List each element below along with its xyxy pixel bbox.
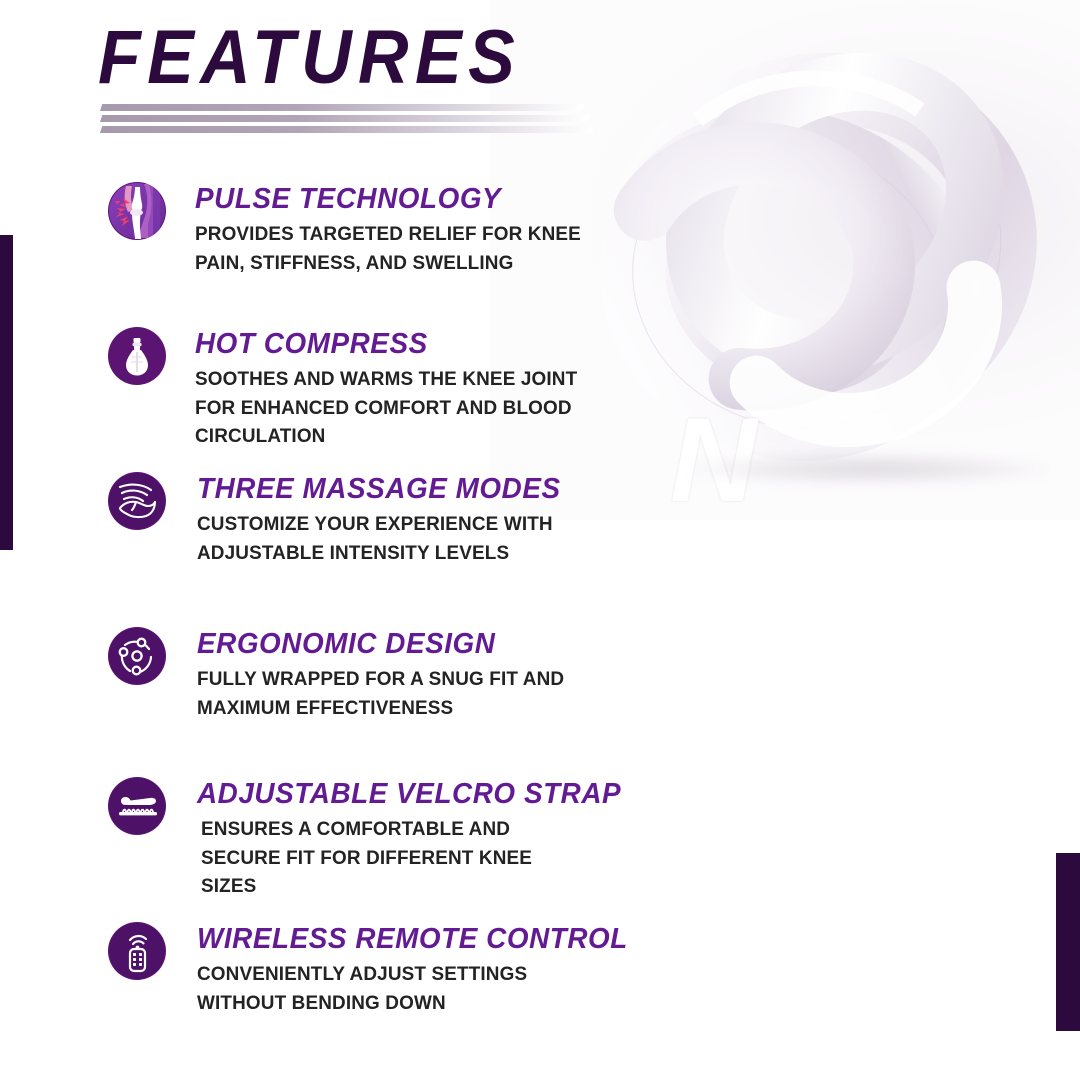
feature-title: THREE MASSAGE MODES [197, 474, 581, 504]
feature-text-block: WIRELESS REMOTE CONTROL CONVENIENTLY ADJ… [197, 922, 646, 1017]
feature-item-pulse-technology: PULSE TECHNOLOGY PROVIDES TARGETED RELIE… [108, 182, 628, 277]
feature-item-ergonomic-design: ERGONOMIC DESIGN FULLY WRAPPED FOR A SNU… [108, 627, 628, 722]
feature-title: ADJUSTABLE VELCRO STRAP [197, 779, 621, 809]
feature-text-block: ADJUSTABLE VELCRO STRAP ENSURES A COMFOR… [197, 777, 639, 900]
hot-water-bottle-icon [108, 327, 166, 385]
page-title: FEATURES [98, 20, 521, 96]
feature-description: CUSTOMIZE YOUR EXPERIENCE WITH ADJUSTABL… [197, 510, 585, 567]
feature-text-block: ERGONOMIC DESIGN FULLY WRAPPED FOR A SNU… [197, 627, 597, 722]
right-accent-bar [1056, 853, 1080, 1031]
knee-pulse-icon [108, 182, 166, 240]
feature-item-three-massage-modes: THREE MASSAGE MODES CUSTOMIZE YOUR EXPER… [108, 472, 628, 567]
title-rule-1 [100, 104, 584, 111]
features-poster: N FEATURES [0, 0, 1080, 1080]
left-accent-bar [0, 235, 13, 550]
feature-description: SOOTHES AND WARMS THE KNEE JOINT FOR ENH… [195, 365, 583, 450]
feature-title: WIRELESS REMOTE CONTROL [197, 924, 628, 954]
ergonomic-nodes-icon [108, 627, 166, 685]
feature-title: HOT COMPRESS [195, 329, 579, 359]
feature-title: ERGONOMIC DESIGN [197, 629, 581, 659]
feature-description: CONVENIENTLY ADJUST SETTINGS WITHOUT BEN… [197, 960, 585, 1017]
feature-text-block: THREE MASSAGE MODES CUSTOMIZE YOUR EXPER… [197, 472, 597, 567]
massage-hand-icon [108, 472, 166, 530]
feature-description: PROVIDES TARGETED RELIEF FOR KNEE PAIN, … [195, 220, 583, 277]
feature-item-adjustable-velcro-strap: ADJUSTABLE VELCRO STRAP ENSURES A COMFOR… [108, 777, 628, 900]
feature-title: PULSE TECHNOLOGY [195, 184, 579, 214]
velcro-strap-icon [108, 777, 166, 835]
feature-text-block: PULSE TECHNOLOGY PROVIDES TARGETED RELIE… [195, 182, 595, 277]
feature-description: ENSURES A COMFORTABLE AND SECURE FIT FOR… [201, 815, 589, 900]
title-rule-3 [100, 126, 594, 133]
title-underline-rules [100, 104, 600, 134]
feature-item-hot-compress: HOT COMPRESS SOOTHES AND WARMS THE KNEE … [108, 327, 628, 450]
wireless-remote-icon [108, 922, 166, 980]
hero-watermark: N [670, 400, 751, 520]
feature-text-block: HOT COMPRESS SOOTHES AND WARMS THE KNEE … [195, 327, 595, 450]
feature-description: FULLY WRAPPED FOR A SNUG FIT AND MAXIMUM… [197, 665, 585, 722]
feature-item-wireless-remote-control: WIRELESS REMOTE CONTROL CONVENIENTLY ADJ… [108, 922, 628, 1017]
title-rule-2 [100, 115, 589, 122]
